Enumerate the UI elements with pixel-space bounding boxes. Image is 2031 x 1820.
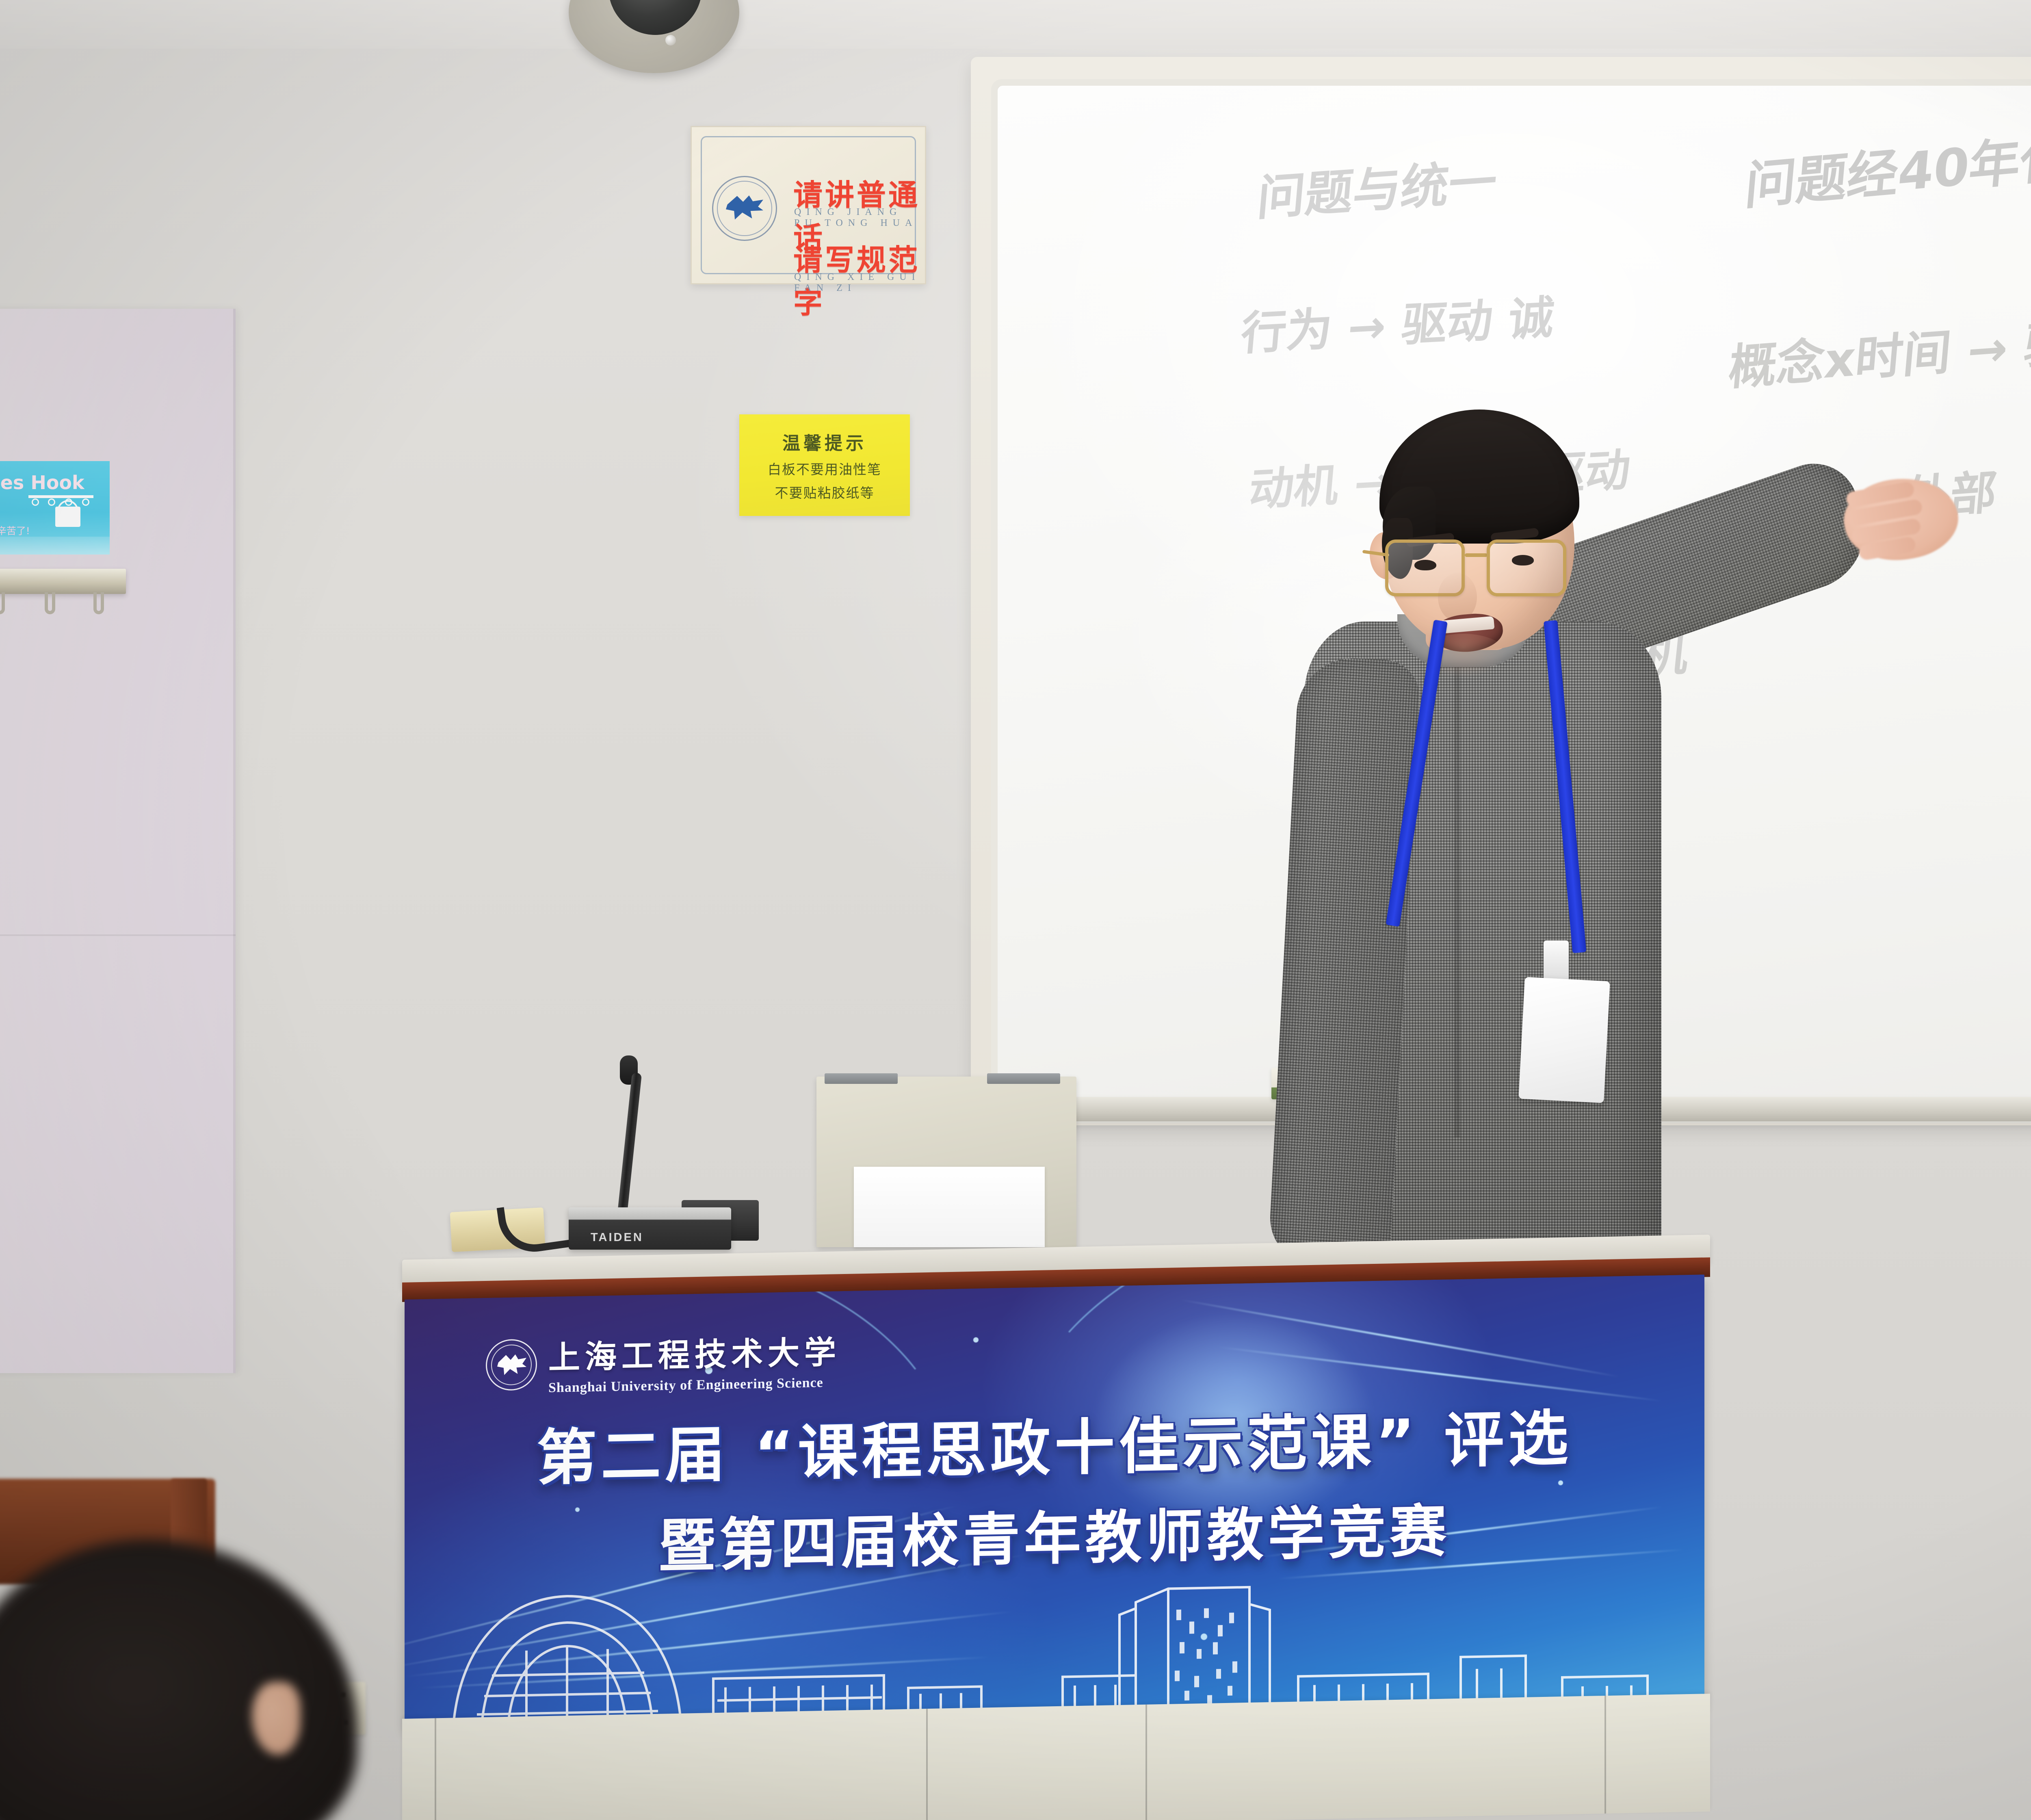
eyeglasses [1385,539,1576,600]
glasses-bridge [1465,553,1488,557]
mandarin-sign-pinyin1: QING JIANG PU TONG HUA [794,207,925,229]
glasses-lens-right [1487,539,1566,596]
classroom-photo-scene: 请讲普通话 QING JIANG PU TONG HUA 请写规范字 QING … [0,0,2031,1820]
id-badge [1518,977,1610,1103]
teacher-eye [1512,555,1534,565]
blank-paper-sheet[interactable] [854,1167,1045,1247]
whiteboard-handwriting: 行为 → 驱动 诚 [1239,280,1557,363]
podium-panel-seam [435,1718,436,1820]
lanyard-clip [1544,940,1569,983]
hook-rail-icon [28,495,93,498]
door-panel-divider [0,934,236,936]
coat-hook-rail[interactable] [0,569,126,594]
shirt-placket [1454,650,1460,1137]
dome-security-camera [569,0,739,73]
hook-sign-skyline [0,537,110,555]
camera-screw [665,35,676,45]
teacher-teeth [1439,616,1494,634]
event-banner: 上海工程技术大学 Shanghai University of Engineer… [405,1274,1704,1730]
hook-dot-icon [48,498,55,506]
podium-panel-seam [1604,1696,1606,1813]
university-seal-icon [486,1339,537,1391]
university-name-cn: 上海工程技术大学 [548,1327,841,1378]
notice-title: 温馨提示 [782,429,867,455]
notice-line2: 不要贴粘胶纸等 [775,482,875,502]
university-seal-icon [712,176,777,241]
hook-sign-english: thes Hook [0,472,84,494]
hook-dot-icon [82,498,89,506]
whiteboard-warning-notice: 温馨提示 白板不要用油性笔 不要贴粘胶纸等 [739,414,910,516]
mandarin-language-sign: 请讲普通话 QING JIANG PU TONG HUA 请写规范字 QING … [691,126,926,284]
clothes-hook-sign: thes Hook 程大 师您辛苦了! [0,461,110,555]
conference-microphone[interactable]: TAIDEN [569,1207,731,1250]
hook-dot-icon [32,498,39,506]
teacher-eye [1414,560,1436,570]
notice-line1: 白板不要用油性笔 [768,459,881,478]
whiteboard-handwriting: 问题与统一 [1255,142,1500,229]
university-logo-block: 上海工程技术大学 Shanghai University of Engineer… [486,1327,841,1397]
mandarin-sign-pinyin2: QING XIE GUI FAN ZI [794,272,925,294]
bag-icon [55,507,80,527]
lectern-podium: TAIDEN [390,1247,1722,1820]
coat-hook-peg[interactable] [45,592,55,614]
wall-upper-band [0,0,2031,49]
podium-panel-seam [1145,1705,1147,1820]
whiteboard-handwriting: 问题经40年代 [1742,116,2031,219]
coat-hook-peg[interactable] [93,592,104,614]
coat-hook-peg[interactable] [0,592,5,614]
podium-panel-seam [926,1709,928,1820]
hook-sign-cn2: 师您辛苦了! [0,523,30,537]
whiteboard-handwriting: 概念x时间 → 驱动力 [1726,297,2031,398]
microphone-brand-label: TAIDEN [591,1231,643,1244]
